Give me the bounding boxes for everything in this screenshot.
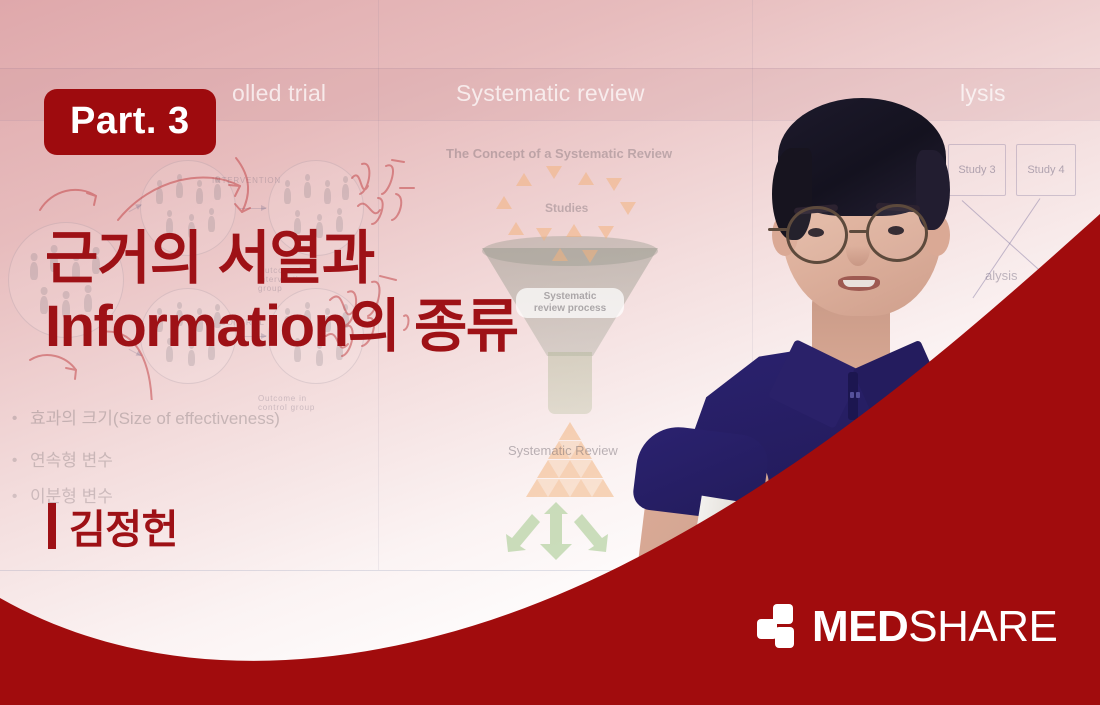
- result-triangle: [592, 479, 614, 497]
- glasses-temple: [768, 228, 788, 231]
- study-triangle: [516, 173, 532, 186]
- slide-header-systematic-review: Systematic review: [456, 80, 645, 107]
- polo-button: [856, 392, 860, 398]
- speaker-accent-bar: [48, 503, 56, 549]
- outcome-arrows-icon: [496, 500, 656, 562]
- study-triangle: [546, 166, 562, 179]
- polo-button: [850, 392, 854, 398]
- systematic-review-result-label: Systematic Review: [508, 443, 618, 458]
- study-box-4: Study 4: [1016, 144, 1076, 196]
- study-triangle: [598, 226, 614, 239]
- presenter-teeth: [843, 280, 875, 287]
- video-thumbnail: olled trial Systematic review lysis INTE…: [0, 0, 1100, 705]
- slide-header-meta-analysis: lysis: [960, 80, 1006, 107]
- presenter-nose: [846, 232, 870, 266]
- speaker-name: 김정헌: [69, 497, 178, 555]
- process-line-2: review process: [534, 303, 606, 314]
- brand-logo: MEDSHARE: [757, 604, 1057, 650]
- bullet-effect-size: 효과의 크기(Size of effectiveness): [30, 404, 280, 429]
- funnel-stem: [548, 352, 592, 414]
- slide-header-rct: olled trial: [232, 80, 326, 107]
- glasses-lens-left: [786, 206, 848, 264]
- study-triangle: [552, 248, 568, 261]
- study-triangle: [536, 228, 552, 241]
- slide-header-top-rule: [0, 68, 1100, 69]
- study-triangle: [620, 202, 636, 215]
- title-line-1: 근거의 서열과: [45, 225, 518, 293]
- medshare-cross-icon: [944, 434, 954, 445]
- systematic-review-process-pill: Systematic review process: [516, 288, 624, 318]
- part-badge: Part. 3: [44, 89, 216, 155]
- bullet-continuous-variable: 연속형 변수: [30, 446, 113, 471]
- glasses-lens-right: [866, 204, 928, 262]
- study-triangle: [496, 196, 512, 209]
- brand-share: SHARE: [908, 602, 1057, 651]
- study-triangle: [566, 224, 582, 237]
- bullet-dot-1: •: [12, 410, 17, 427]
- brand-wordmark: MEDSHARE: [812, 605, 1057, 649]
- speaker-block: 김정헌: [48, 497, 178, 555]
- medshare-cross-icon: [757, 604, 799, 650]
- result-triangle: [559, 422, 581, 440]
- presenter-hand: [702, 518, 821, 603]
- study-triangle: [582, 250, 598, 263]
- study-box-3: Study 3: [948, 144, 1006, 196]
- studies-label: Studies: [545, 201, 588, 215]
- bullet-dot-3: •: [12, 488, 17, 505]
- process-line-1: Systematic: [544, 291, 597, 302]
- brand-med: MED: [812, 602, 908, 651]
- meta-analysis-label: alysis: [985, 268, 1018, 283]
- page-title: 근거의 서열과 Information의 종류: [45, 225, 518, 362]
- study-triangle: [606, 178, 622, 191]
- title-line-2: Information의 종류: [45, 293, 518, 361]
- study-triangle: [578, 172, 594, 185]
- bullet-dot-2: •: [12, 452, 17, 469]
- result-triangle: [581, 460, 603, 478]
